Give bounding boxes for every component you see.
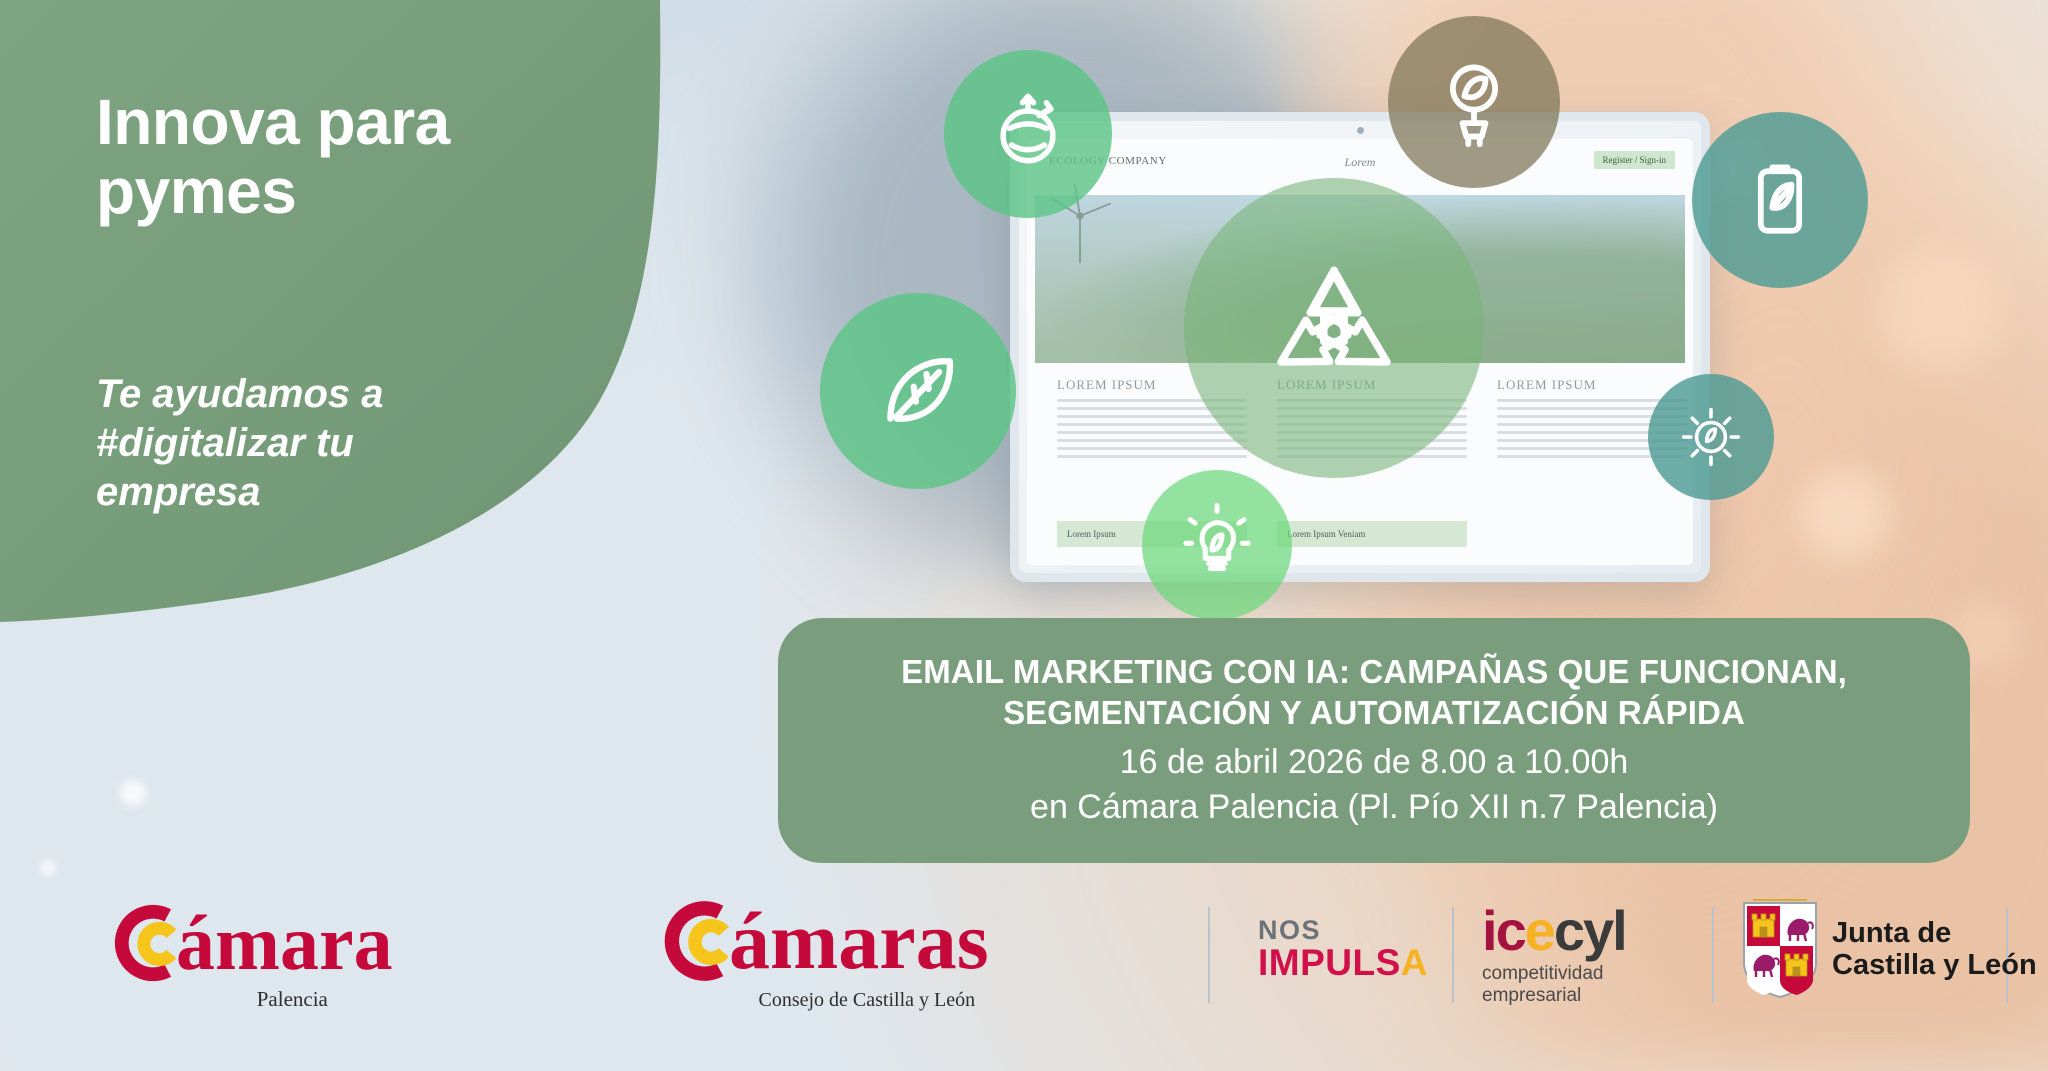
tablet-card: Lorem Ipsum Veniam: [1277, 521, 1467, 547]
event-venue: en Cámara Palencia (Pl. Pío XII n.7 Pale…: [1030, 785, 1718, 829]
icecyl-wordmark: i c e cyl: [1482, 903, 1626, 959]
junta-line-2: Castilla y León: [1832, 949, 2037, 981]
nos-impulsa-accent: A: [1401, 942, 1428, 983]
icecyl-letter-e: e: [1525, 903, 1554, 959]
camaras-c-mark: [645, 893, 741, 989]
tablet-col-title: LOREM IPSUM: [1497, 377, 1687, 393]
subhead-line-2: #digitalizar tu: [96, 419, 576, 468]
recycle-arrows-icon: [1184, 178, 1484, 478]
nos-impulsa-main: IMPULS: [1258, 942, 1401, 983]
icecyl-letter-c: c: [1496, 903, 1525, 959]
castilla-leon-crest-icon: [1740, 899, 1820, 999]
camara-wordmark: ámara: [176, 904, 393, 982]
subhead-line-1: Te ayudamos a: [96, 370, 576, 419]
gear-leaf-icon: [1648, 374, 1774, 500]
logo-nos-impulsa: NOS IMPULSA: [1258, 917, 1428, 983]
logo-icecyl: i c e cyl competitividad empresarial: [1482, 903, 1626, 1008]
event-title-line-1: EMAIL MARKETING CON IA: CAMPAÑAS QUE FUN…: [901, 652, 1847, 693]
plug-leaf-icon: [1388, 16, 1560, 188]
camaras-logo-row: ámaras: [645, 893, 989, 989]
banner-stage: ECOLOGY COMPANY Lorem Register / Sign-in…: [0, 0, 2048, 1071]
footer-logo-bar: ámara Palencia ámaras Consejo de Castill…: [0, 881, 2048, 1071]
icecyl-subtitle: competitividad empresarial: [1482, 963, 1626, 1008]
camaras-wordmark: ámaras: [729, 900, 989, 982]
logo-camara-palencia: ámara Palencia: [96, 897, 393, 1012]
logo-camaras-consejo: ámaras Consejo de Castilla y León: [645, 893, 989, 1012]
logo-separator: [1452, 907, 1454, 1003]
tablet-topbar: ECOLOGY COMPANY Lorem Register / Sign-in: [1027, 149, 1693, 183]
tablet-signin-button: Register / Sign-in: [1594, 151, 1676, 169]
page-subtitle: Te ayudamos a #digitalizar tu empresa: [96, 370, 576, 516]
camara-logo-row: ámara: [96, 897, 393, 989]
event-callout-banner: EMAIL MARKETING CON IA: CAMPAÑAS QUE FUN…: [778, 618, 1970, 863]
tablet-nav-center: Lorem: [1345, 155, 1376, 170]
recycle-globe-icon: [944, 50, 1112, 218]
icecyl-letters-cyl: cyl: [1554, 903, 1626, 959]
junta-wordmark: Junta de Castilla y León: [1832, 917, 2037, 982]
junta-line-1: Junta de: [1832, 917, 1951, 949]
camaras-subtitle: Consejo de Castilla y León: [745, 989, 989, 1012]
icecyl-letter-i: i: [1482, 903, 1496, 959]
icecyl-subtitle-line-1: competitividad: [1482, 963, 1626, 985]
headline-line-2: pymes: [96, 157, 616, 226]
logo-separator: [1712, 907, 1714, 1003]
nos-impulsa-line-2: IMPULSA: [1258, 944, 1428, 983]
logo-junta-castilla-leon: Junta de Castilla y León: [1740, 899, 2037, 999]
page-title: Innova para pymes: [96, 88, 616, 226]
event-date: 16 de abril 2026 de 8.00 a 10.00h: [1120, 740, 1629, 784]
nos-impulsa-line-1: NOS: [1258, 917, 1428, 944]
headline-line-1: Innova para: [96, 88, 616, 157]
camara-c-mark: [96, 897, 188, 989]
event-title-line-2: SEGMENTACIÓN Y AUTOMATIZACIÓN RÁPIDA: [1003, 693, 1745, 734]
tablet-card-label: Lorem Ipsum: [1057, 529, 1116, 539]
tablet-camera: [1357, 127, 1364, 134]
camara-subtitle: Palencia: [192, 987, 393, 1012]
logo-separator: [1208, 907, 1210, 1003]
subhead-line-3: empresa: [96, 468, 576, 517]
icecyl-subtitle-line-2: empresarial: [1482, 985, 1626, 1007]
lightbulb-leaf-icon: [1142, 470, 1292, 620]
battery-leaf-icon: [1692, 112, 1868, 288]
leaf-feather-icon: [820, 293, 1016, 489]
